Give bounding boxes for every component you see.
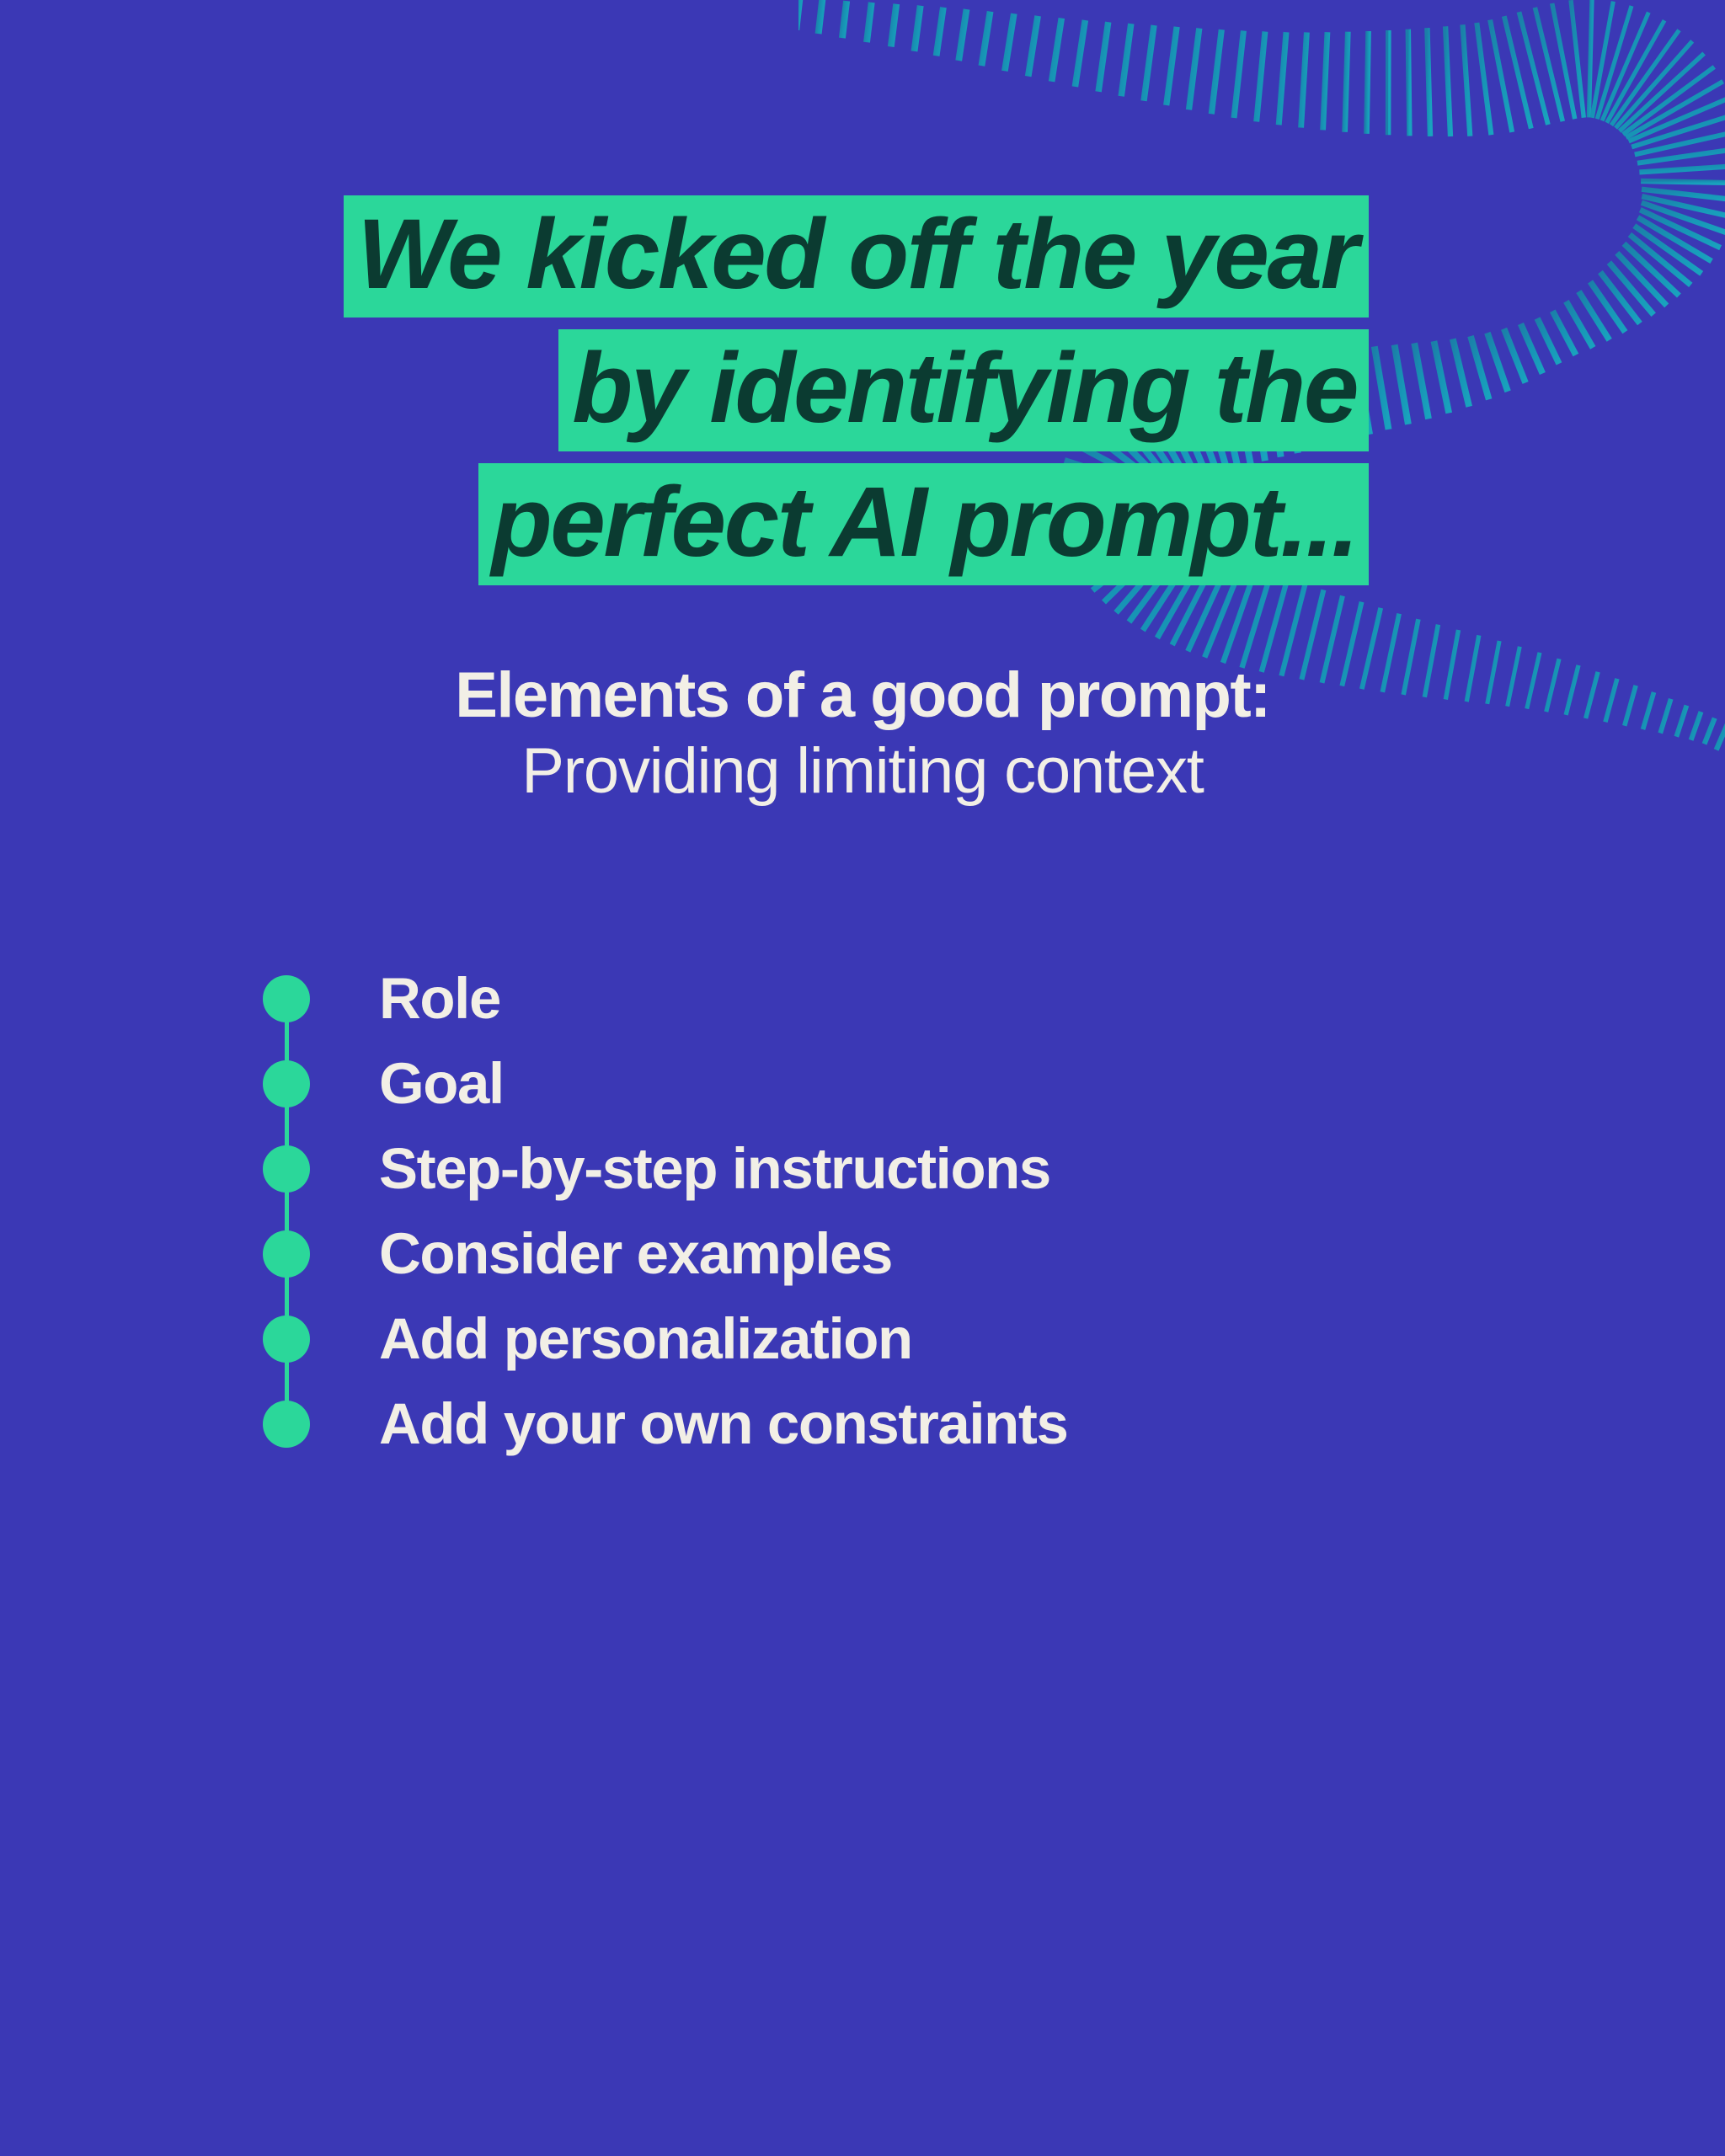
list-item: Role	[253, 956, 1600, 1041]
page-title: We kicked off the year by identifying th…	[0, 195, 1369, 585]
headline-line-3: perfect AI prompt...	[478, 463, 1369, 585]
list-item: Consider examples	[253, 1211, 1600, 1296]
subtitle-heading: Elements of a good prompt:	[0, 659, 1725, 731]
list-item-label: Step-by-step instructions	[379, 1139, 1050, 1198]
subtitle-detail: Providing limiting context	[0, 734, 1725, 808]
list-item-label: Add your own constraints	[379, 1395, 1067, 1453]
poster-canvas: We kicked off the year by identifying th…	[0, 0, 1725, 2156]
bullet-dot-icon	[263, 1145, 310, 1193]
bullet-dot-icon	[263, 975, 310, 1022]
list-item: Add personalization	[253, 1296, 1600, 1381]
bullet-dot-icon	[263, 1060, 310, 1107]
bullet-dot-icon	[263, 1401, 310, 1448]
headline-line: perfect AI prompt...	[0, 463, 1369, 585]
list-item-label: Add personalization	[379, 1310, 912, 1368]
list-item: Step-by-step instructions	[253, 1126, 1600, 1211]
headline-line-1: We kicked off the year	[344, 195, 1369, 318]
headline-line: We kicked off the year	[0, 195, 1369, 318]
bullet-dot-icon	[263, 1315, 310, 1363]
prompt-elements-list: Role Goal Step-by-step instructions Cons…	[253, 956, 1600, 1466]
bullet-dot-icon	[263, 1230, 310, 1278]
list-item: Add your own constraints	[253, 1381, 1600, 1466]
list-item-label: Goal	[379, 1054, 504, 1113]
headline-line: by identifying the	[0, 329, 1369, 451]
list-item-label: Role	[379, 969, 500, 1027]
subtitle-block: Elements of a good prompt: Providing lim…	[0, 659, 1725, 808]
list-item-label: Consider examples	[379, 1225, 892, 1283]
list-item: Goal	[253, 1041, 1600, 1126]
headline-line-2: by identifying the	[558, 329, 1369, 451]
